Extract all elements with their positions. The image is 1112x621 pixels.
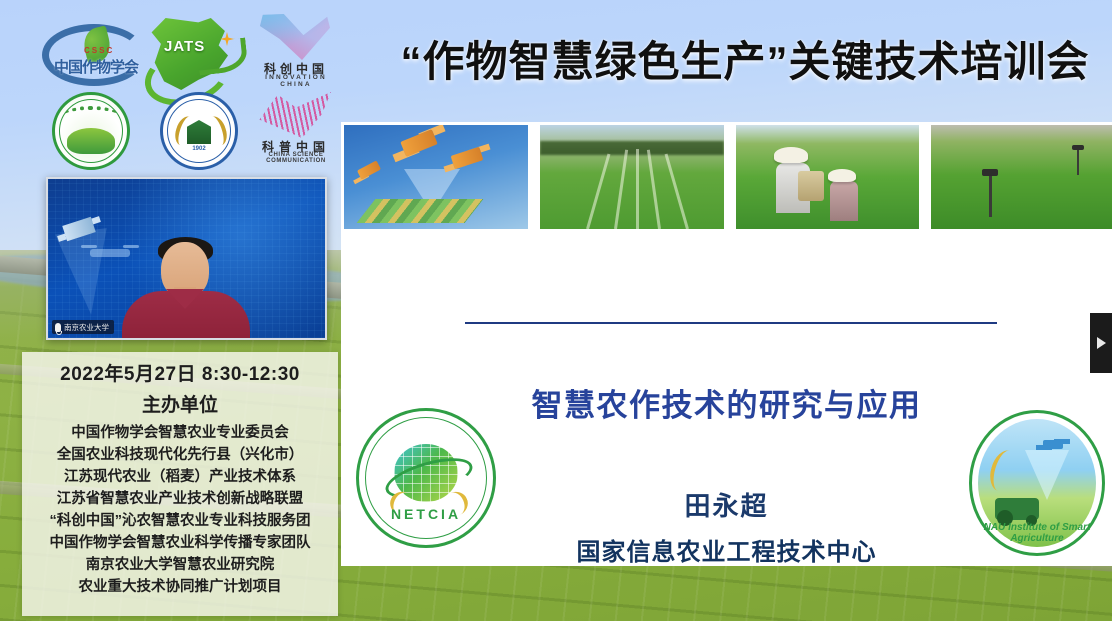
nanjing-agricultural-university-logo: 1902: [160, 92, 238, 170]
satellite-beam-graphic: [1025, 450, 1069, 500]
list-item: 江苏现代农业（稻麦）产业技术体系: [22, 466, 338, 488]
list-item: 中国作物学会智慧农业专业委员会: [22, 422, 338, 444]
netcia-acronym: NETCIA: [356, 506, 496, 522]
innovation-china-logo: 科创中国 INNOVATION CHINA: [250, 14, 342, 86]
plot-divider: [664, 154, 688, 229]
satellite-icon: [357, 160, 381, 179]
rice-field-plots-photo: [540, 125, 724, 229]
list-item: 南京农业大学智慧农业研究院: [22, 554, 338, 576]
drone-icon: [90, 249, 130, 257]
shared-presentation-slide[interactable]: 智慧农作技术的研究与应用 田永超 国家信息农业工程技术中心 南京农业大学智慧农业…: [341, 122, 1112, 566]
plot-divider: [647, 150, 661, 229]
speaker-video-tile[interactable]: 南京农业大学: [46, 177, 327, 340]
satellite-remote-sensing-photo: [344, 125, 528, 229]
plot-divider: [614, 150, 628, 229]
plant-society-logo: [52, 92, 130, 170]
list-item: 全国农业科技现代化先行县（兴化市）: [22, 444, 338, 466]
event-datetime: 2022年5月27日 8:30-12:30: [22, 359, 338, 386]
backpack-equipment: [798, 171, 824, 201]
sponsor-logo-bar: CSSC 中国作物学会 JATS 科创中国 INNOVATION CHINA 1…: [0, 0, 345, 172]
jats-logo: JATS: [142, 12, 246, 100]
field-survey-workers-photo: [736, 125, 920, 229]
sun-hat-icon: [774, 147, 808, 163]
innovation-china-en: INNOVATION CHINA: [250, 74, 342, 88]
list-item: “科创中国”沁农智慧农业专业科技服务团: [22, 510, 338, 532]
cssc-logo: CSSC 中国作物学会: [36, 20, 154, 90]
netcia-logo: NETCIA: [356, 408, 496, 548]
nau-founding-year: 1902: [160, 146, 238, 152]
plot-divider: [586, 154, 610, 229]
sensor-mast: [1077, 147, 1079, 175]
sensor-mast: [989, 171, 992, 217]
event-info-panel: 2022年5月27日 8:30-12:30 主办单位 中国作物学会智慧农业专业委…: [22, 352, 338, 616]
treeline-graphic: [540, 141, 724, 155]
satellite-icon: [451, 147, 484, 170]
sensor-head-icon: [1072, 145, 1084, 150]
satellite-icon: [1043, 440, 1063, 449]
organizer-list: 中国作物学会智慧农业专业委员会 全国农业科技现代化先行县（兴化市） 江苏现代农业…: [22, 422, 338, 598]
list-item: 江苏省智慧农业产业技术创新战略联盟: [22, 488, 338, 510]
expand-panel-button[interactable]: [1090, 313, 1112, 373]
microphone-icon: [55, 323, 61, 332]
satellite-icon: [400, 129, 438, 157]
nauisa-english-name: NAU Institute of Smart Agriculture: [965, 522, 1109, 544]
sensor-head-icon: [982, 169, 998, 176]
tractor-icon: [995, 498, 1039, 520]
cssc-logo-cn: 中国作物学会: [46, 56, 146, 77]
field-sensor-station-photo: [931, 125, 1112, 229]
sun-hat-icon: [828, 169, 856, 182]
science-communication-mark-icon: [258, 92, 334, 138]
science-communication-en: CHINA SCIENCE COMMUNICATION: [246, 152, 346, 164]
slide-title-divider: [465, 322, 997, 324]
innovation-china-mark-icon: [260, 14, 330, 60]
participant-name-label: 南京农业大学: [64, 322, 109, 333]
host-section-label: 主办单位: [22, 390, 338, 417]
farmland-raster-plane: [357, 199, 484, 223]
worker-figure: [830, 181, 858, 221]
science-communication-logo: 科普中国 CHINA SCIENCE COMMUNICATION: [250, 92, 342, 168]
nau-institute-of-smart-agriculture-logo: NAU Institute of Smart Agriculture: [969, 410, 1105, 556]
plot-divider: [636, 149, 639, 229]
plant-logo-text-band: [64, 106, 118, 124]
slide-banner-image-strip: [344, 125, 1112, 229]
jats-logo-text: JATS: [164, 38, 205, 55]
participant-name-badge: 南京农业大学: [52, 320, 114, 334]
satellite-beam-graphic: [55, 228, 117, 318]
cssc-logo-en: CSSC: [84, 46, 114, 55]
list-item: 中国作物学会智慧农业科学传播专家团队: [22, 532, 338, 554]
green-field-icon: [67, 128, 115, 154]
event-title: “作物智慧绿色生产”关键技术培训会: [400, 22, 1090, 94]
chevron-right-icon: [1097, 337, 1106, 349]
list-item: 农业重大技术协同推广计划项目: [22, 576, 338, 598]
